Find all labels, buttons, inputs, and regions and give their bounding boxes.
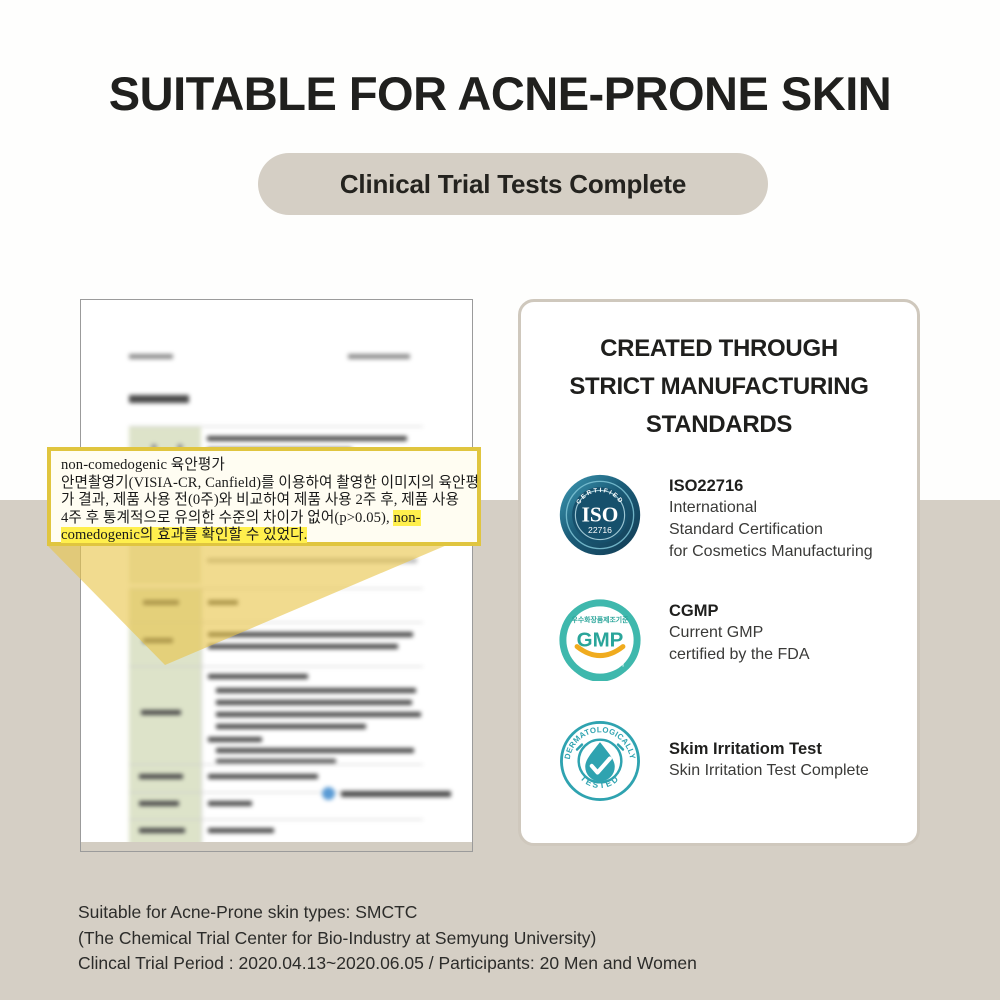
dermatologically-tested-badge-icon: DERMATOLOGICALLY TESTED [559,720,641,802]
cert-item-cgmp-desc-1: Current GMP [669,622,810,644]
page-title: SUITABLE FOR ACNE-PRONE SKIN [0,66,1000,121]
cert-item-cgmp-name: CGMP [669,600,810,622]
cert-item-iso-name: ISO22716 [669,475,873,497]
certification-panel: CREATED THROUGH STRICT MANUFACTURING STA… [518,299,920,846]
caption-line-3: Clincal Trial Period : 2020.04.13~2020.0… [78,951,938,977]
trial-caption: Suitable for Acne-Prone skin types: SMCT… [78,900,938,977]
cert-item-iso-desc-3: for Cosmetics Manufacturing [669,541,873,563]
cert-title-line-3: STANDARDS [521,406,917,444]
svg-text:식품의약품안전처: 식품의약품안전처 [576,658,624,667]
document-page [81,300,472,851]
document-seal-icon [322,787,335,800]
cert-item-dermatological: DERMATOLOGICALLY TESTED Skim Irritatiom … [559,720,869,802]
cert-item-cgmp-desc-2: certified by the FDA [669,644,810,666]
cert-item-iso-text: ISO22716 International Standard Certific… [669,474,873,563]
callout-line-4-main: 4주 후 통계적으로 유의한 수준의 차이가 없어(p>0.05), [61,510,393,526]
subtitle-pill: Clinical Trial Tests Complete [258,153,768,215]
cgmp-badge-icon: 우수화장품제조기준 GMP 식품의약품안전처 [559,599,641,681]
certification-panel-title: CREATED THROUGH STRICT MANUFACTURING STA… [521,330,917,444]
svg-text:22716: 22716 [588,525,612,535]
svg-text:GMP: GMP [577,629,624,652]
cert-item-iso: CERTIFIED ISO 22716 ISO22716 Internation… [559,474,873,563]
cert-item-iso-desc-2: Standard Certification [669,519,873,541]
callout-line-2: 안면촬영기(VISIA-CR, Canfield)를 이용하여 촬영한 이미지의… [61,475,469,493]
callout-line-4-highlight: non- [393,510,420,526]
callout-line-1: non-comedogenic 육안평가 [61,457,469,475]
cert-item-dermatological-name: Skim Irritatiom Test [669,738,869,760]
caption-line-1: Suitable for Acne-Prone skin types: SMCT… [78,900,938,926]
cert-item-cgmp: 우수화장품제조기준 GMP 식품의약품안전처 CGMP Current GMP … [559,599,810,681]
svg-text:ISO: ISO [582,503,619,527]
cert-item-iso-desc-1: International [669,497,873,519]
cert-title-line-2: STRICT MANUFACTURING [521,368,917,406]
callout-line-5: comedogenic의 효과를 확인할 수 있었다. [61,527,469,545]
cert-item-dermatological-desc-1: Skin Irritation Test Complete [669,760,869,782]
callout-line-5-highlight: comedogenic의 효과를 확인할 수 있었다. [61,527,307,543]
cert-item-cgmp-text: CGMP Current GMP certified by the FDA [669,599,810,666]
clinical-report-scan [80,299,473,852]
callout-line-3: 가 결과, 제품 사용 전(0주)와 비교하여 제품 사용 2주 후, 제품 사… [61,492,469,510]
svg-text:우수화장품제조기준: 우수화장품제조기준 [572,615,630,624]
cert-title-line-1: CREATED THROUGH [521,330,917,368]
cert-item-dermatological-text: Skim Irritatiom Test Skin Irritation Tes… [669,720,869,782]
callout-line-4: 4주 후 통계적으로 유의한 수준의 차이가 없어(p>0.05), non- [61,510,469,528]
callout-highlight-box: non-comedogenic 육안평가 안면촬영기(VISIA-CR, Can… [47,447,481,546]
iso-22716-badge-icon: CERTIFIED ISO 22716 [559,474,641,556]
subtitle-pill-label: Clinical Trial Tests Complete [340,169,686,200]
document-footer-bar [81,842,472,851]
caption-line-2: (The Chemical Trial Center for Bio-Indus… [78,926,938,952]
